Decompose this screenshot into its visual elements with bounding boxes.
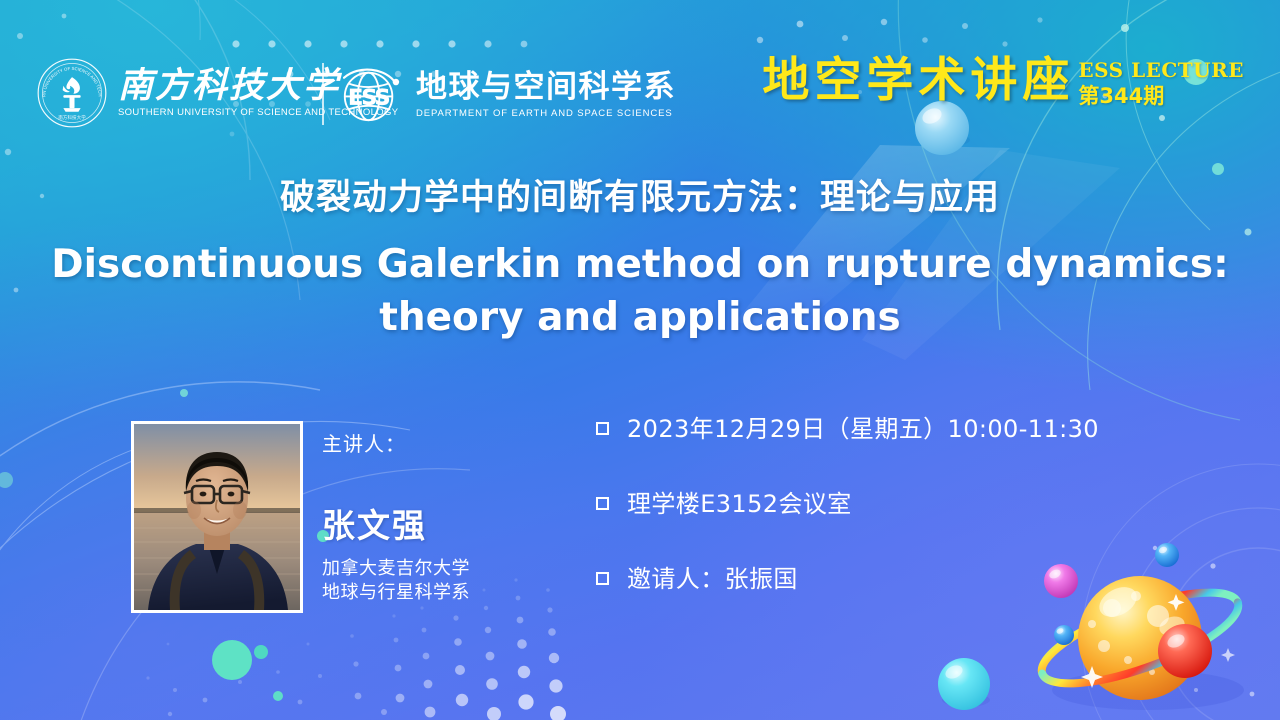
speaker-portrait-image — [134, 424, 300, 610]
ess-globe-icon: ESS — [334, 59, 406, 131]
square-bullet-icon — [596, 572, 609, 585]
svg-text:南方科技大学: 南方科技大学 — [58, 114, 86, 121]
department-wordmark: 地球与空间科学系 DEPARTMENT OF EARTH AND SPACE S… — [416, 71, 676, 120]
lecture-badge-meta: ESS LECTURE 第344期 — [1078, 55, 1244, 109]
speaker-info: 主讲人： 张文强 加拿大麦吉尔大学 地球与行星科学系 — [322, 428, 562, 605]
detail-row-datetime: 2023年12月29日（星期五）10:00-11:30 — [596, 414, 1196, 444]
lecture-badge-title-en: ESS LECTURE — [1078, 59, 1244, 81]
detail-row-host: 邀请人：张振国 — [596, 564, 1196, 594]
event-venue: 理学楼E3152会议室 — [627, 489, 852, 519]
lecture-title-block: 破裂动力学中的间断有限元方法：理论与应用 Discontinuous Galer… — [0, 176, 1280, 344]
lecture-title-en-line1: Discontinuous Galerkin method on rupture… — [0, 238, 1280, 291]
event-details-list: 2023年12月29日（星期五）10:00-11:30 理学楼E3152会议室 … — [596, 414, 1196, 594]
lecture-badge-title-cn: 地空学术讲座 — [762, 55, 1074, 107]
speaker-name: 张文强 — [322, 499, 562, 547]
speaker-affiliation-line2: 地球与行星科学系 — [322, 581, 562, 605]
poster-header: SOUTHERN UNIVERSITY OF SCIENCE AND TECHN… — [0, 55, 1280, 145]
svg-text:ESS: ESS — [348, 85, 389, 110]
lecture-poster: SOUTHERN UNIVERSITY OF SCIENCE AND TECHN… — [0, 0, 1280, 720]
department-name-cn: 地球与空间科学系 — [416, 71, 676, 104]
header-divider — [322, 63, 324, 125]
speaker-label: 主讲人： — [322, 428, 562, 457]
department-name-en: DEPARTMENT OF EARTH AND SPACE SCIENCES — [416, 108, 676, 119]
svg-text:SOUTHERN UNIVERSITY OF SCIENCE: SOUTHERN UNIVERSITY OF SCIENCE AND TECHN… — [36, 57, 103, 97]
lecture-issue-number: 第344期 — [1078, 83, 1244, 109]
department-logo: ESS 地球与空间科学系 DEPARTMENT OF EARTH AND SPA… — [334, 59, 676, 131]
lecture-title-en-line2: theory and applications — [0, 291, 1280, 344]
square-bullet-icon — [596, 497, 609, 510]
lecture-title-cn: 破裂动力学中的间断有限元方法：理论与应用 — [0, 176, 1280, 222]
speaker-photo — [131, 421, 303, 613]
speaker-affiliation-line1: 加拿大麦吉尔大学 — [322, 557, 562, 581]
detail-row-venue: 理学楼E3152会议室 — [596, 489, 1196, 519]
event-host: 邀请人：张振国 — [627, 564, 798, 594]
lecture-series-badge: 地空学术讲座 ESS LECTURE 第344期 — [762, 55, 1244, 109]
event-datetime: 2023年12月29日（星期五）10:00-11:30 — [627, 414, 1099, 444]
square-bullet-icon — [596, 422, 609, 435]
sustech-seal-icon: SOUTHERN UNIVERSITY OF SCIENCE AND TECHN… — [36, 57, 108, 129]
